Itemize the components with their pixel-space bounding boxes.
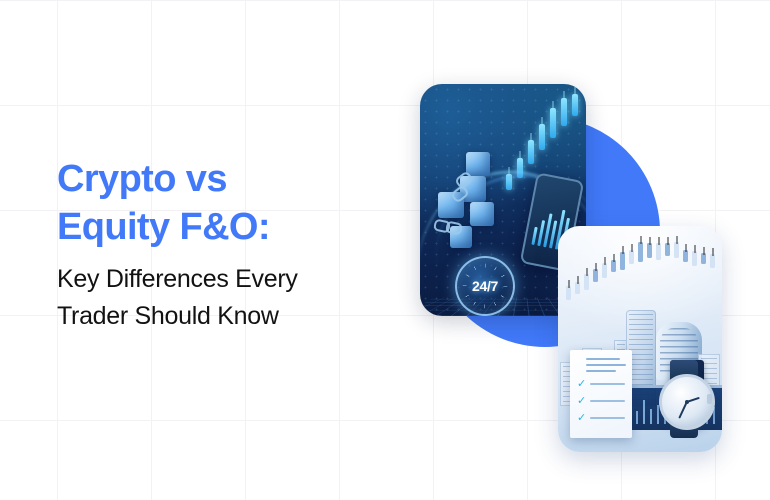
clock-icon-24-7-badge: 24/7 (455, 256, 515, 316)
blockchain-cubes (430, 152, 508, 258)
text-line (590, 417, 625, 419)
wristwatch-icon (658, 360, 710, 438)
candle-bar (620, 252, 625, 270)
text-line (586, 364, 626, 366)
candle-bar (683, 250, 688, 262)
candle-bar (584, 274, 589, 290)
text-line (590, 383, 625, 385)
check-icon: ✓ (577, 395, 586, 406)
ticker-bar (650, 409, 652, 424)
candle-bar (692, 251, 697, 266)
candlestick-chart-equity (562, 236, 720, 302)
candle-bar (710, 254, 715, 268)
ticker-bar (636, 411, 638, 424)
candle-bar (611, 260, 616, 272)
subtitle-line-2: Trader Should Know (57, 298, 387, 335)
check-icon: ✓ (577, 412, 586, 423)
cube (466, 152, 490, 176)
equity-illustration-card: ₹ (558, 226, 722, 452)
page-title: Crypto vs Equity F&O: (57, 155, 387, 251)
candle-bar (539, 124, 545, 150)
headline-block: Crypto vs Equity F&O: Key Differences Ev… (57, 155, 387, 335)
candle-bar (674, 242, 679, 258)
check-icon: ✓ (577, 378, 586, 389)
text-line (586, 370, 616, 372)
candle-bar (647, 243, 652, 258)
ticker-bar (643, 400, 645, 424)
subtitle: Key Differences Every Trader Should Know (57, 261, 387, 335)
headline-line-1: Crypto vs (57, 155, 387, 203)
candle-bar (575, 282, 580, 294)
banner-canvas: Crypto vs Equity F&O: Key Differences Ev… (0, 0, 770, 500)
cube (470, 202, 494, 226)
watch-center-pin (685, 400, 689, 404)
headline-line-2: Equity F&O: (57, 203, 387, 251)
watch-crown (707, 394, 712, 404)
text-line (590, 400, 625, 402)
candle-bar (629, 250, 634, 264)
badge-label: 24/7 (472, 278, 498, 294)
candle-bar (701, 253, 706, 264)
checklist-document: ✓ ✓ ✓ (570, 350, 632, 438)
candle-bar (593, 269, 598, 282)
text-line (586, 358, 620, 360)
candle-bar (602, 263, 607, 278)
checklist-row: ✓ (577, 412, 625, 423)
candle-bar (638, 242, 643, 262)
candle-bar (561, 98, 567, 126)
candle-bar (656, 243, 661, 260)
candle-bar (528, 140, 534, 164)
checklist-row: ✓ (577, 395, 625, 406)
candle-bar (566, 286, 571, 300)
checklist-row: ✓ (577, 378, 625, 389)
candle-bar (665, 243, 670, 256)
candle-bar (550, 108, 556, 138)
candle-bar (572, 94, 578, 116)
subtitle-line-1: Key Differences Every (57, 261, 387, 298)
